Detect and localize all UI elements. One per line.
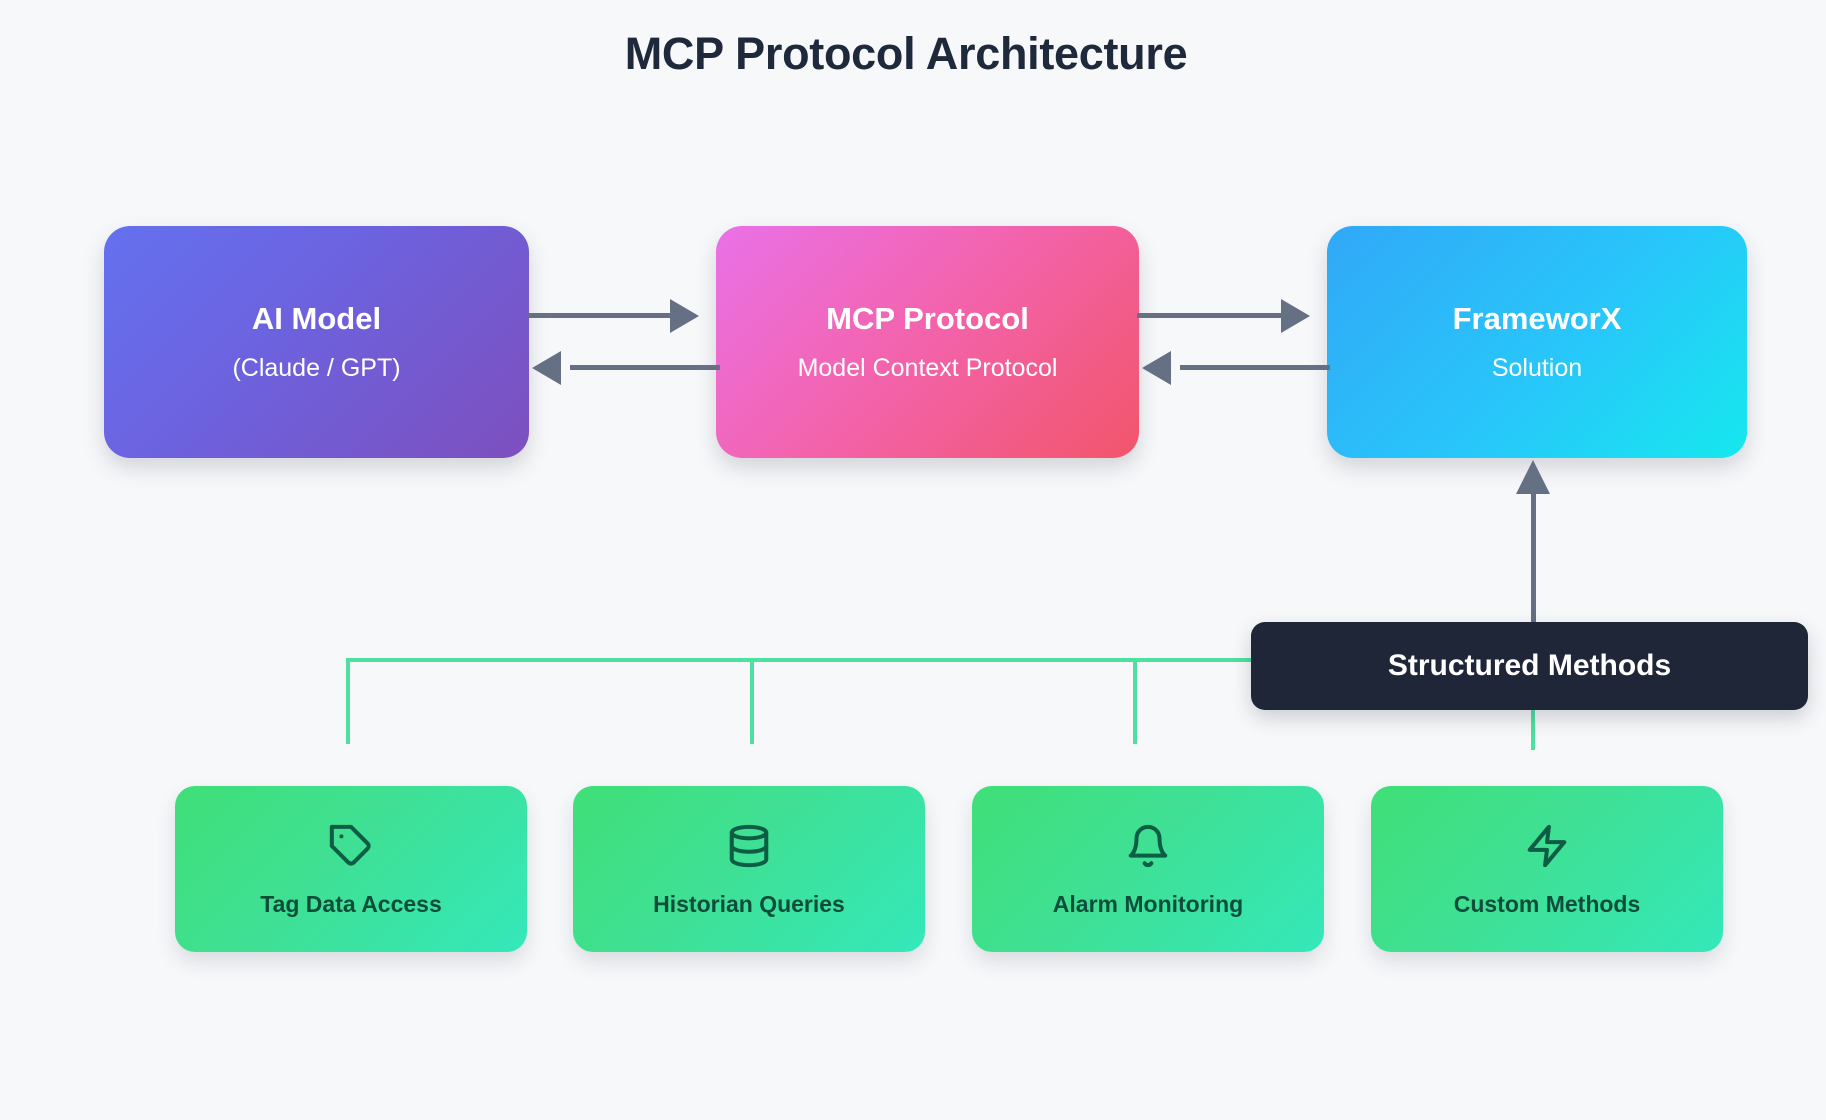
branch-bus-horizontal — [346, 658, 1368, 662]
node-ai-model-subtitle: (Claude / GPT) — [232, 356, 400, 381]
page-title-text: MCP Protocol Architecture — [625, 28, 1188, 80]
node-structured-methods[interactable]: Structured Methods — [1251, 622, 1808, 710]
node-mcp-protocol-subtitle: Model Context Protocol — [798, 356, 1058, 381]
tag-icon — [328, 823, 374, 869]
connector-structured-methods-to-frameworx-line — [1531, 490, 1536, 633]
method-card-historian-queries[interactable]: Historian Queries — [573, 786, 925, 952]
node-frameworx-title: FrameworX — [1453, 303, 1622, 334]
connector-mcp-to-frameworx-line — [1137, 313, 1289, 318]
arrow-up-icon — [1516, 460, 1550, 494]
connector-mcp-to-ai-model-line — [570, 365, 720, 370]
node-mcp-protocol-title: MCP Protocol — [826, 303, 1029, 334]
method-card-alarm-monitoring[interactable]: Alarm Monitoring — [972, 786, 1324, 952]
arrow-right-icon — [670, 299, 699, 333]
node-mcp-protocol[interactable]: MCP Protocol Model Context Protocol — [716, 226, 1139, 458]
arrow-left-icon — [532, 351, 561, 385]
branch-drop-custom-methods — [1531, 706, 1535, 750]
branch-drop-tag-data-access — [346, 658, 350, 744]
page-title: MCP Protocol Architecture — [0, 28, 1826, 80]
arrow-right-icon — [1281, 299, 1310, 333]
branch-drop-historian-queries — [750, 658, 754, 744]
method-card-label: Tag Data Access — [260, 893, 442, 916]
database-icon — [726, 823, 772, 869]
connector-frameworx-to-mcp-line — [1180, 365, 1330, 370]
connector-ai-model-to-mcp-line — [527, 313, 679, 318]
method-card-custom-methods[interactable]: Custom Methods — [1371, 786, 1723, 952]
branch-drop-alarm-monitoring — [1133, 658, 1137, 744]
bell-icon — [1125, 823, 1171, 869]
node-frameworx[interactable]: FrameworX Solution — [1327, 226, 1747, 458]
method-card-label: Alarm Monitoring — [1053, 893, 1243, 916]
method-card-label: Historian Queries — [653, 893, 845, 916]
arrow-left-icon — [1142, 351, 1171, 385]
method-card-label: Custom Methods — [1454, 893, 1641, 916]
node-frameworx-subtitle: Solution — [1492, 356, 1582, 381]
lightning-bolt-icon — [1524, 823, 1570, 869]
node-structured-methods-label: Structured Methods — [1388, 649, 1671, 683]
node-ai-model[interactable]: AI Model (Claude / GPT) — [104, 226, 529, 458]
diagram-canvas: MCP Protocol Architecture AI Model (Clau… — [0, 0, 1826, 1120]
method-card-tag-data-access[interactable]: Tag Data Access — [175, 786, 527, 952]
node-ai-model-title: AI Model — [252, 303, 381, 334]
